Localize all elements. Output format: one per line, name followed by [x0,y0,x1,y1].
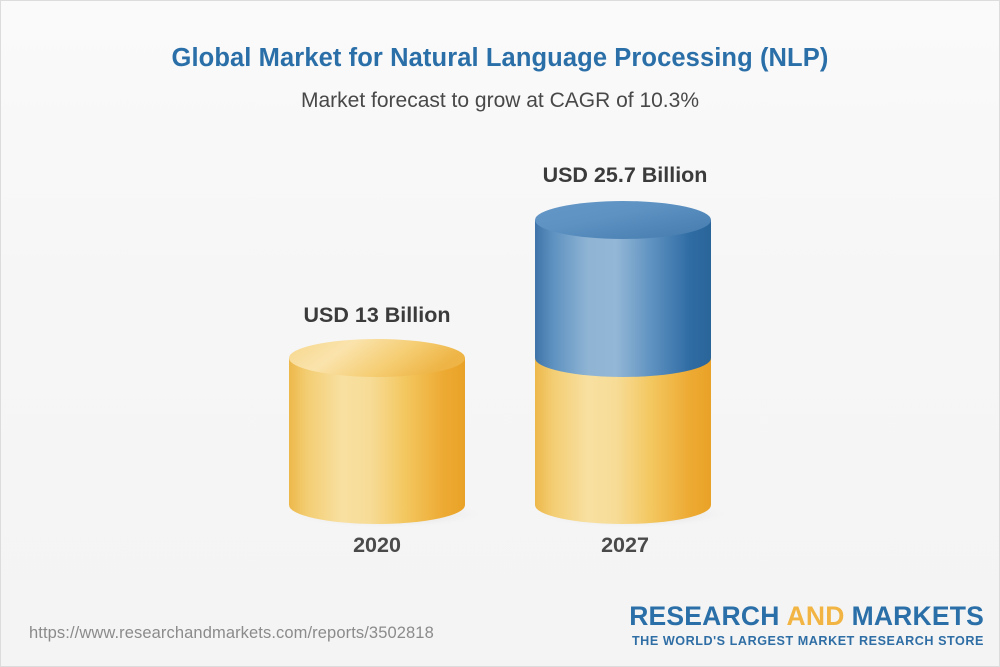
brand-logo[interactable]: RESEARCHANDMARKETS THE WORLD'S LARGEST M… [629,603,984,647]
brand-logo-and: AND [787,601,845,631]
chart-plot-area: USD 13 Billion [1,1,1000,601]
bar-segment-growth-2027 [535,220,711,377]
bar-cylinder-2027 [527,198,727,528]
brand-logo-markets: MARKETS [852,601,984,631]
bar-top-2027 [535,201,711,239]
bar-body-2020 [289,358,465,524]
bar-cylinder-2020 [281,338,481,528]
data-label-2020: USD 13 Billion [189,303,565,328]
bar-cylinder-2020-graphic [281,338,481,528]
category-label-2027: 2027 [437,533,813,558]
infographic-canvas: Global Market for Natural Language Proce… [0,0,1000,667]
source-url[interactable]: https://www.researchandmarkets.com/repor… [29,624,434,643]
brand-logo-tagline: THE WORLD'S LARGEST MARKET RESEARCH STOR… [629,635,984,648]
bar-top-2020 [289,339,465,377]
data-label-2027: USD 25.7 Billion [437,163,813,188]
brand-logo-research: RESEARCH [629,601,779,631]
brand-logo-wordmark: RESEARCHANDMARKETS [629,603,984,630]
bar-segment-base-2027 [535,358,711,524]
bar-cylinder-2027-graphic [527,198,727,528]
